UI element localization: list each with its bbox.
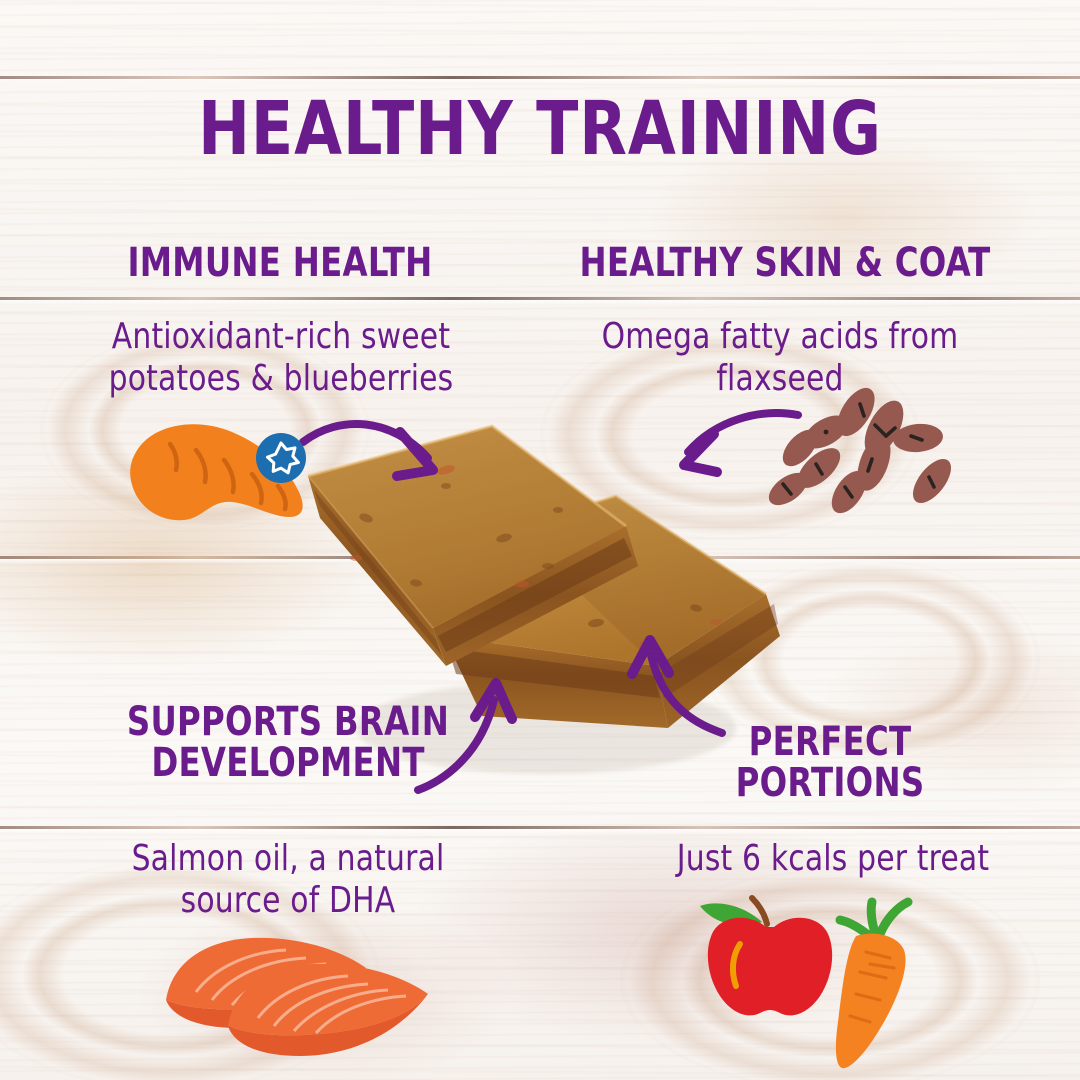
feature-heading-immune: IMMUNE HEALTH [82, 243, 478, 284]
page-title: HEALTHY TRAINING [38, 92, 1042, 166]
feature-heading-portions: PERFECT PORTIONS [695, 722, 965, 804]
plank-seam [0, 297, 1080, 300]
feature-body-brain: Salmon oil, a natural source of DHA [95, 838, 481, 922]
plank-seam [0, 76, 1080, 79]
wood-knot [620, 870, 1040, 1080]
feature-heading-brain: SUPPORTS BRAIN DEVELOPMENT [99, 702, 477, 784]
plank-seam [0, 826, 1080, 829]
feature-body-skin-coat: Omega fatty acids from flaxseed [545, 316, 1014, 400]
feature-body-immune: Antioxidant-rich sweet potatoes & bluebe… [74, 316, 488, 400]
feature-body-portions: Just 6 kcals per treat [663, 838, 1003, 880]
feature-heading-skin-coat: HEALTHY SKIN & COAT [569, 243, 1001, 284]
infographic-canvas: HEALTHY TRAINING IMMUNE HEALTH Antioxida… [0, 0, 1080, 1080]
